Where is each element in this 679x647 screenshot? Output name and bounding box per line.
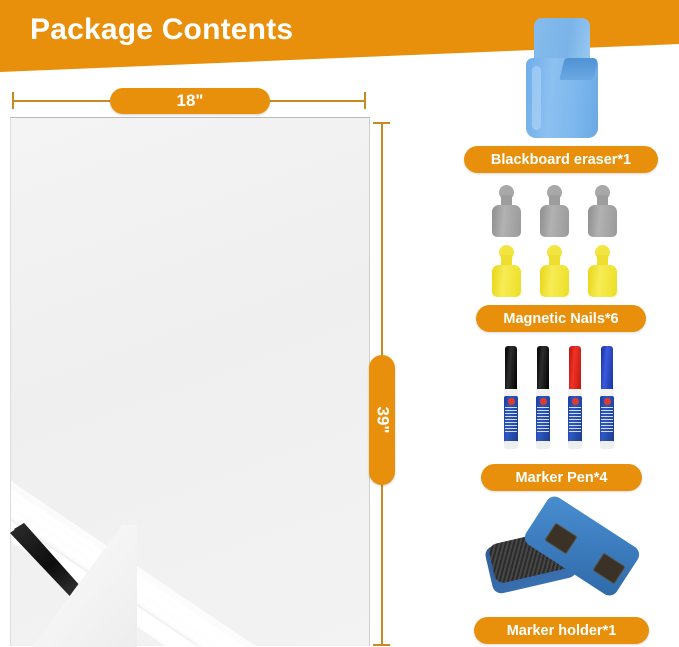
pen-logo-icon [572,398,579,405]
magnetic-nail-icon [538,185,571,237]
pen-text-icon [537,407,549,433]
pen-barrel-icon [568,396,582,443]
magnetic-nail-icon [490,245,523,297]
nail-base-icon [540,205,569,237]
width-tick-left [12,92,14,109]
eraser-inner-icon [559,58,598,80]
nail-base-icon [492,265,521,297]
magnetic-nail-icon [538,245,571,297]
pen-text-icon [505,407,517,433]
height-tick-top [373,122,390,124]
magnetic-nail-icon [586,185,619,237]
marker-holder-icon [480,512,650,612]
pen-logo-icon [604,398,611,405]
marker-pen-icon [598,346,616,449]
nail-base-icon [492,205,521,237]
nail-base-icon [540,265,569,297]
pen-logo-icon [540,398,547,405]
pen-cap-icon [601,346,613,391]
height-dimension-label: 39" [369,355,395,485]
pen-cap-icon [537,346,549,391]
eraser-shine-icon [532,66,541,130]
pen-barrel-icon [504,396,518,443]
marker-pen-icon [502,346,520,449]
marker-pen-icon [534,346,552,449]
pen-foot-icon [504,441,518,449]
marker-pen-icon [566,346,584,449]
pen-barrel-icon [600,396,614,443]
magnetic-nail-icon [490,185,523,237]
pen-foot-icon [600,441,614,449]
magnetic-nail-icon [586,245,619,297]
pen-cap-icon [569,346,581,391]
eraser-icon [512,18,607,138]
pen-barrel-icon [536,396,550,443]
curled-corner-front [12,523,137,647]
height-tick-bottom [373,644,390,646]
nail-base-icon [588,205,617,237]
pen-foot-icon [568,441,582,449]
nail-base-icon [588,265,617,297]
width-dimension-label: 18" [110,88,270,114]
pen-text-icon [601,407,613,433]
accessories-column: Blackboard eraser*1 Magnetic Nails*6 [440,0,679,647]
pen-foot-icon [536,441,550,449]
label-marker-holder: Marker holder*1 [474,617,649,644]
pen-logo-icon [508,398,515,405]
label-blackboard-eraser: Blackboard eraser*1 [464,146,658,173]
label-magnetic-nails: Magnetic Nails*6 [476,305,646,332]
pen-cap-icon [505,346,517,391]
width-tick-right [364,92,366,109]
page-title: Package Contents [30,13,293,47]
label-marker-pen: Marker Pen*4 [481,464,642,491]
height-dimension-text: 39" [372,407,392,434]
pen-text-icon [569,407,581,433]
